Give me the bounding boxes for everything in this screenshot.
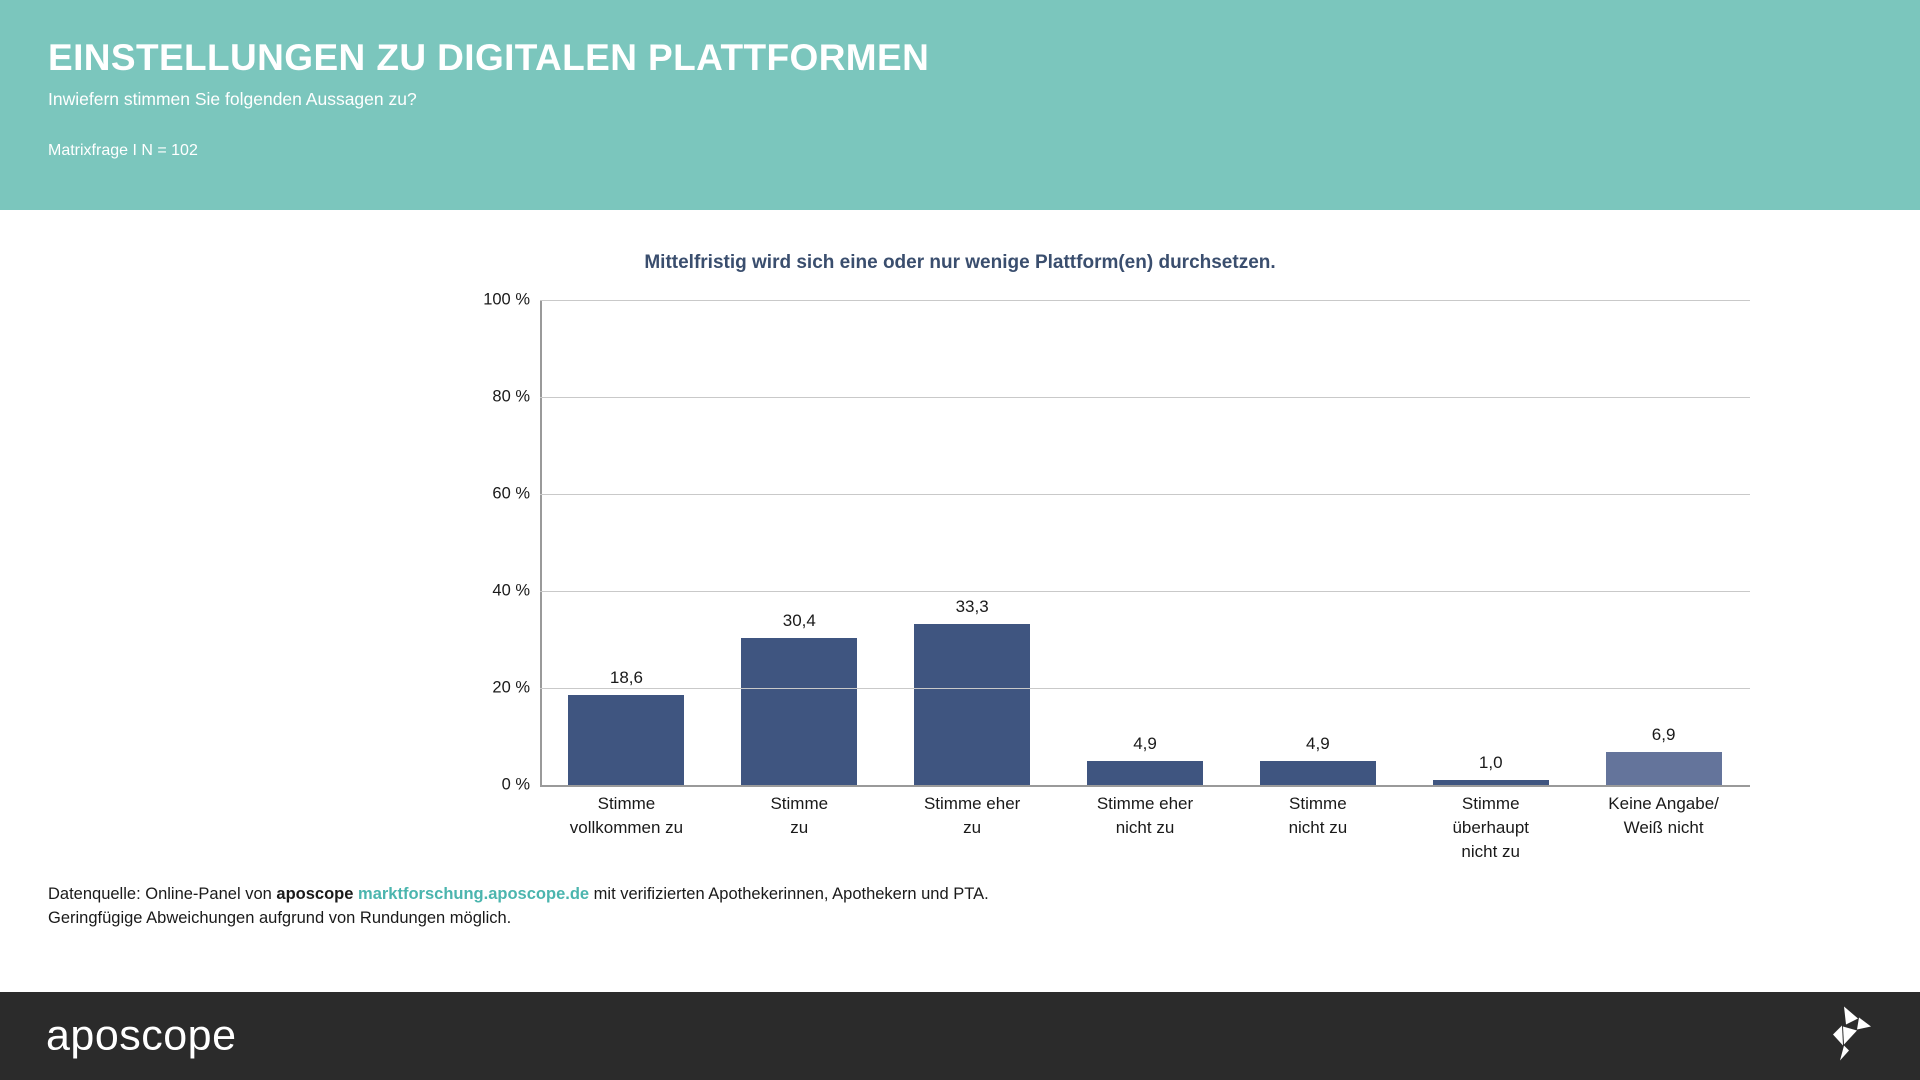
x-axis-category-label: Stimme eherzu [886,792,1059,864]
x-axis-category-line: Keine Angabe/ [1577,792,1750,816]
gridline [540,494,1750,495]
bar-item[interactable]: 6,9 [1577,300,1750,785]
page-title: EINSTELLUNGEN ZU DIGITALEN PLATTFORMEN [48,38,1920,79]
page-header: EINSTELLUNGEN ZU DIGITALEN PLATTFORMEN I… [0,0,1920,210]
bar-value-label: 18,6 [610,668,643,688]
bar-value-label: 6,9 [1652,725,1676,745]
bar-rect[interactable] [1260,761,1376,785]
x-axis-category-label: Stimmenicht zu [1231,792,1404,864]
bar-chart: 0 %20 %40 %60 %80 %100 % 18,630,433,34,9… [160,300,1760,790]
y-axis-tick-label: 100 % [483,291,530,310]
bar-rect[interactable] [741,638,857,785]
bar-item[interactable]: 1,0 [1404,300,1577,785]
bar-value-label: 1,0 [1479,753,1503,773]
plot-area: 18,630,433,34,94,91,06,9 [540,300,1750,785]
x-axis-category-label: Stimmevollkommen zu [540,792,713,864]
bar-rect[interactable] [1087,761,1203,785]
bar-value-label: 30,4 [783,611,816,631]
y-axis-tick-label: 0 % [502,776,530,795]
x-axis-category-line: zu [713,816,886,840]
y-axis-tick-label: 80 % [492,388,530,407]
bar-item[interactable]: 33,3 [886,300,1059,785]
x-axis-category-line: Stimme [540,792,713,816]
footnote-source-text: Datenquelle: Online-Panel von [48,885,276,903]
bar-value-label: 4,9 [1133,734,1157,754]
x-axis-category-line: Stimme [1231,792,1404,816]
page-footer: aposcope [0,992,1920,1080]
bar-value-label: 4,9 [1306,734,1330,754]
y-axis-labels: 0 %20 %40 %60 %80 %100 % [460,300,530,785]
x-axis-line [540,785,1750,787]
bar-rect[interactable] [1606,752,1722,785]
bar-item[interactable]: 30,4 [713,300,886,785]
bar-value-label: 33,3 [956,597,989,617]
gridline [540,591,1750,592]
bar-series: 18,630,433,34,94,91,06,9 [540,300,1750,785]
footnote-line-2: Geringfügige Abweichungen aufgrund von R… [48,906,989,931]
bar-rect[interactable] [568,695,684,785]
chart-title: Mittelfristig wird sich eine oder nur we… [0,252,1920,274]
x-axis-category-label: Stimme ehernicht zu [1059,792,1232,864]
x-axis-category-line: Weiß nicht [1577,816,1750,840]
y-axis-tick-label: 60 % [492,485,530,504]
x-axis-labels: Stimmevollkommen zuStimmezuStimme eherzu… [540,792,1750,864]
x-axis-category-line: vollkommen zu [540,816,713,840]
y-axis-tick-label: 40 % [492,582,530,601]
gridline [540,688,1750,689]
bar-item[interactable]: 18,6 [540,300,713,785]
x-axis-category-line: zu [886,816,1059,840]
x-axis-category-line: nicht zu [1231,816,1404,840]
x-axis-category-line: überhaupt [1404,816,1577,840]
footnote-source-tail: mit verifizierten Apothekerinnen, Apothe… [589,885,989,903]
bar-item[interactable]: 4,9 [1059,300,1232,785]
bar-rect[interactable] [914,624,1030,786]
brand-wordmark: aposcope [46,1012,237,1061]
x-axis-category-line: Stimme eher [886,792,1059,816]
footnote-line-1: Datenquelle: Online-Panel von aposcope m… [48,882,989,907]
origami-bird-icon [1818,1005,1872,1068]
chart-section: Mittelfristig wird sich eine oder nur we… [0,252,1920,957]
x-axis-category-line: Stimme eher [1059,792,1232,816]
x-axis-category-line: nicht zu [1059,816,1232,840]
page-subtitle: Inwiefern stimmen Sie folgenden Aussagen… [48,89,1920,110]
gridline [540,300,1750,301]
footnote: Datenquelle: Online-Panel von aposcope m… [48,882,989,932]
footnote-brand: aposcope [276,885,353,903]
x-axis-category-line: Stimme [713,792,886,816]
x-axis-category-label: Keine Angabe/Weiß nicht [1577,792,1750,864]
x-axis-category-label: Stimmezu [713,792,886,864]
footnote-link[interactable]: marktforschung.aposcope.de [358,885,589,903]
bar-item[interactable]: 4,9 [1231,300,1404,785]
gridline [540,397,1750,398]
x-axis-category-line: Stimme [1404,792,1577,816]
survey-meta: Matrixfrage I N = 102 [48,142,1920,160]
x-axis-category-label: Stimmeüberhauptnicht zu [1404,792,1577,864]
x-axis-category-line: nicht zu [1404,840,1577,864]
y-axis-tick-label: 20 % [492,679,530,698]
